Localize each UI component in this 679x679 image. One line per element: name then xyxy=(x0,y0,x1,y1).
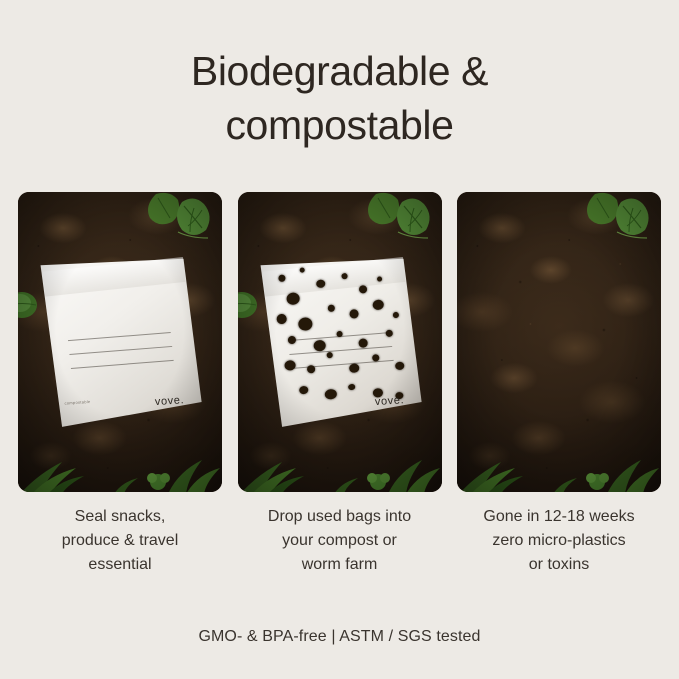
caption-line: your compost or xyxy=(238,529,442,553)
grass-icon xyxy=(457,418,661,492)
panel-row: compostable vove. xyxy=(18,192,661,492)
panel-stage-3 xyxy=(457,192,661,492)
caption-stage-1: Seal snacks, produce & travel essential xyxy=(18,505,222,577)
caption-line: worm farm xyxy=(238,553,442,577)
leaf-icon xyxy=(138,192,216,246)
leaf-icon xyxy=(18,288,40,322)
caption-row: Seal snacks, produce & travel essential … xyxy=(18,505,661,577)
leaf-icon xyxy=(238,288,260,322)
caption-line: Seal snacks, xyxy=(18,505,222,529)
caption-line: produce & travel xyxy=(18,529,222,553)
brand-mark: vove. xyxy=(155,394,185,408)
grass-icon xyxy=(238,418,442,492)
caption-line: Gone in 12-18 weeks xyxy=(457,505,661,529)
caption-line: or toxins xyxy=(457,553,661,577)
caption-line: Drop used bags into xyxy=(238,505,442,529)
title-line-2: compostable xyxy=(0,98,679,152)
panel-stage-2: vove. xyxy=(238,192,442,492)
panel-stage-1: compostable vove. xyxy=(18,192,222,492)
footer-certifications: GMO- & BPA-free | ASTM / SGS tested xyxy=(0,628,679,646)
page-title: Biodegradable & compostable xyxy=(0,44,679,152)
compostable-bag: vove. xyxy=(255,247,424,430)
caption-stage-3: Gone in 12-18 weeks zero micro-plastics … xyxy=(457,505,661,577)
caption-line: zero micro-plastics xyxy=(457,529,661,553)
caption-stage-2: Drop used bags into your compost or worm… xyxy=(238,505,442,577)
grass-icon xyxy=(18,418,222,492)
brand-mark: vove. xyxy=(374,394,404,408)
leaf-icon xyxy=(577,192,655,246)
compostable-bag: compostable vove. xyxy=(36,247,205,430)
title-line-1: Biodegradable & xyxy=(0,44,679,98)
infographic-page: Biodegradable & compostable xyxy=(0,0,679,679)
caption-line: essential xyxy=(18,553,222,577)
leaf-icon xyxy=(358,192,436,246)
